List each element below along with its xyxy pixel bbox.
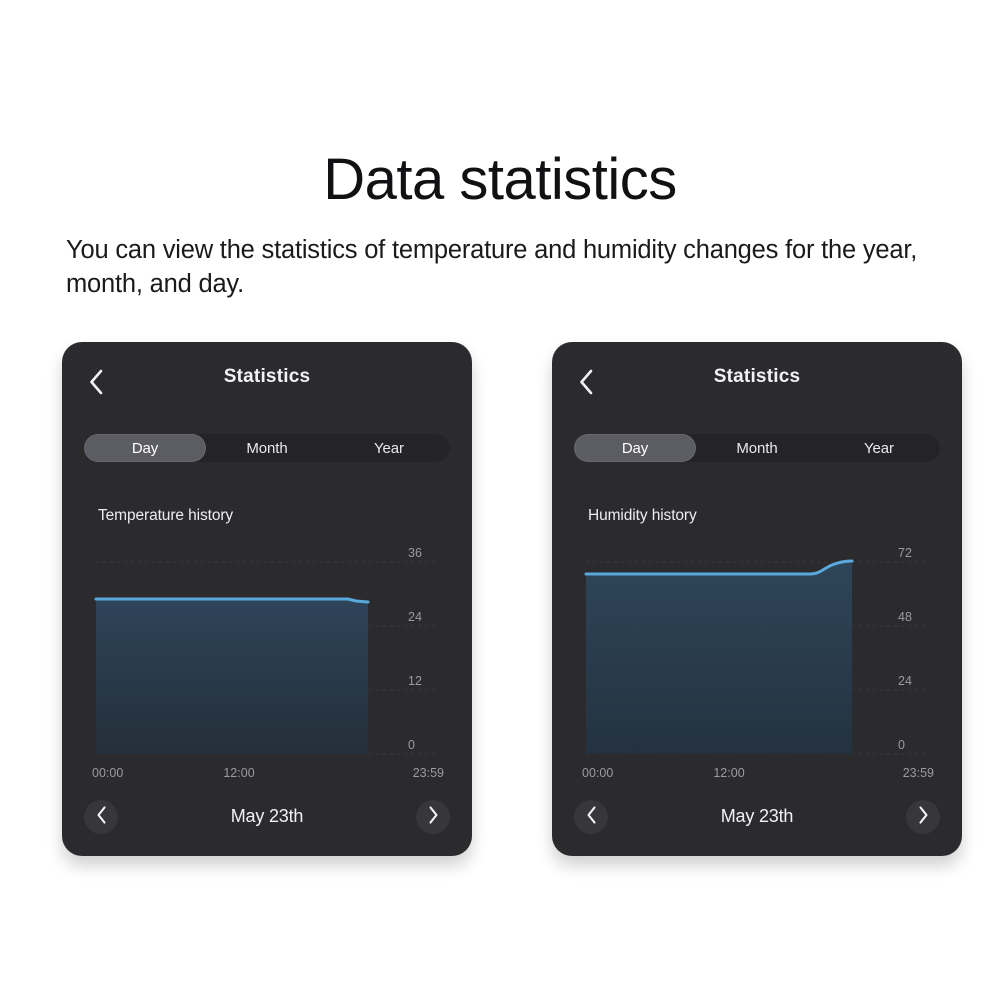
current-date-label: May 23th [62, 806, 472, 827]
x-tick-end: 23:59 [903, 766, 934, 780]
chevron-right-icon [918, 806, 929, 829]
humidity-chart: 72 48 24 0 [580, 554, 934, 764]
segment-year[interactable]: Year [818, 434, 940, 462]
humidity-line [586, 561, 852, 574]
segment-month[interactable]: Month [696, 434, 818, 462]
date-navigation: May 23th [62, 786, 472, 856]
page-root: Data statistics You can view the statist… [0, 0, 1000, 1000]
statistics-card-humidity: Statistics Day Month Year Humidity histo… [552, 342, 962, 856]
y-tick-0: 0 [898, 738, 928, 752]
y-tick-1: 12 [408, 674, 438, 688]
app-bar: Statistics [62, 342, 472, 420]
period-segmented-control[interactable]: Day Month Year [574, 434, 940, 462]
y-tick-2: 48 [898, 610, 928, 624]
temperature-area [96, 599, 368, 754]
temperature-chart: 36 24 12 0 [90, 554, 444, 764]
segment-day[interactable]: Day [574, 434, 696, 462]
app-bar-title: Statistics [62, 366, 472, 388]
x-tick-mid: 12:00 [552, 766, 906, 780]
segment-month[interactable]: Month [206, 434, 328, 462]
segment-year[interactable]: Year [328, 434, 450, 462]
page-subtitle: You can view the statistics of temperatu… [66, 234, 956, 302]
next-day-button[interactable] [906, 800, 940, 834]
y-tick-3: 72 [898, 546, 928, 560]
app-bar: Statistics [552, 342, 962, 420]
chevron-right-icon [428, 806, 439, 829]
y-tick-1: 24 [898, 674, 928, 688]
x-tick-end: 23:59 [413, 766, 444, 780]
next-day-button[interactable] [416, 800, 450, 834]
y-tick-0: 0 [408, 738, 438, 752]
period-segmented-control[interactable]: Day Month Year [84, 434, 450, 462]
statistics-card-temperature: Statistics Day Month Year Temperature hi… [62, 342, 472, 856]
page-title: Data statistics [0, 148, 1000, 212]
y-tick-3: 36 [408, 546, 438, 560]
segment-day[interactable]: Day [84, 434, 206, 462]
y-tick-2: 24 [408, 610, 438, 624]
chart-title: Temperature history [98, 507, 233, 525]
chart-title: Humidity history [588, 507, 697, 525]
app-bar-title: Statistics [552, 366, 962, 388]
current-date-label: May 23th [552, 806, 962, 827]
humidity-area [586, 561, 852, 754]
x-tick-mid: 12:00 [62, 766, 416, 780]
date-navigation: May 23th [552, 786, 962, 856]
